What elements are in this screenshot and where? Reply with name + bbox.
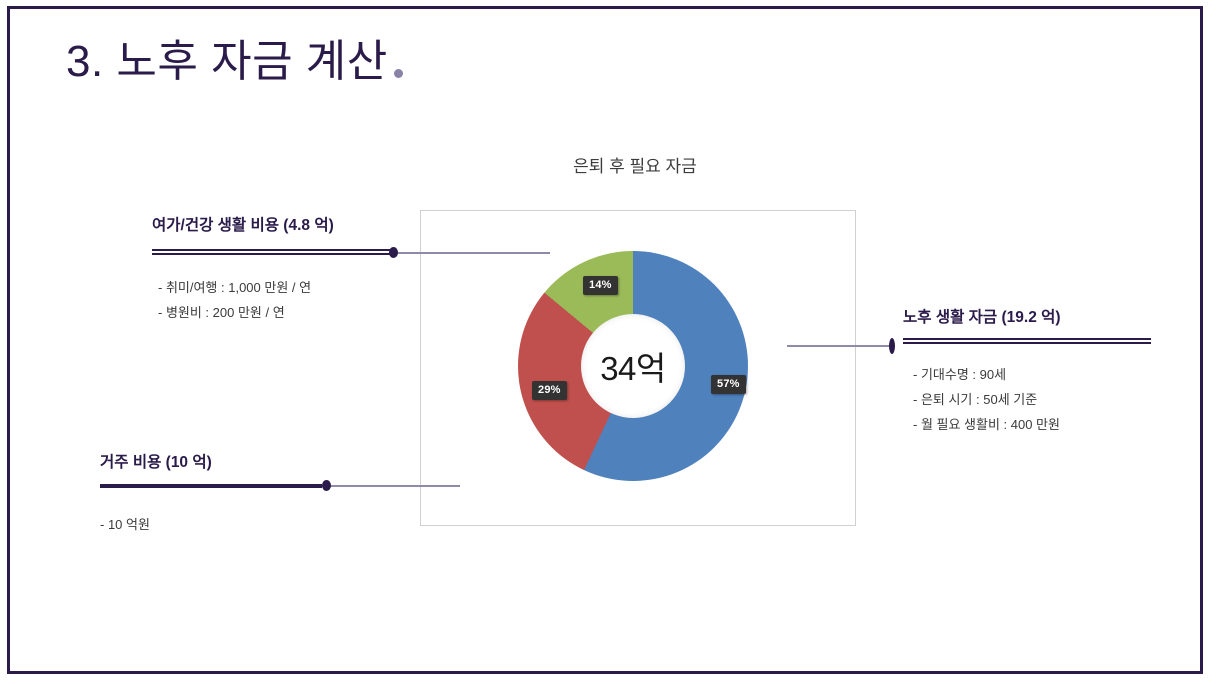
callout-housing-rule <box>100 484 322 488</box>
donut-center-total: 34억 <box>518 251 748 481</box>
callout-leisure-heading: 여가/건강 생활 비용 (4.8 억) <box>152 213 392 235</box>
callout-leisure-rule <box>152 249 392 255</box>
callout-leisure-items: - 취미/여행 : 1,000 만원 / 연 - 병원비 : 200 만원 / … <box>158 275 392 325</box>
slice-label-leisure: 14% <box>583 276 618 295</box>
slice-label-housing: 29% <box>532 381 567 400</box>
leader-line-retirement <box>787 345 890 347</box>
leader-marker-housing <box>322 480 331 491</box>
chart-title: 은퇴 후 필요 자금 <box>520 152 750 177</box>
callout-housing-heading: 거주 비용 (10 억) <box>100 450 322 472</box>
callout-retirement-items: - 기대수명 : 90세 - 은퇴 시기 : 50세 기준 - 월 필요 생활비… <box>913 362 1151 437</box>
callout-retirement: 노후 생활 자금 (19.2 억) - 기대수명 : 90세 - 은퇴 시기 :… <box>903 305 1151 437</box>
slice-label-retirement: 57% <box>711 375 746 394</box>
list-item: - 취미/여행 : 1,000 만원 / 연 <box>158 275 392 300</box>
slide-canvas: 3. 노후 자금 계산 은퇴 후 필요 자금 34억 57% 29% 14% 여… <box>0 0 1216 684</box>
callout-retirement-rule <box>903 338 1151 344</box>
list-item: - 병원비 : 200 만원 / 연 <box>158 300 392 325</box>
callout-leisure: 여가/건강 생활 비용 (4.8 억) - 취미/여행 : 1,000 만원 /… <box>152 213 392 325</box>
list-item: - 기대수명 : 90세 <box>913 362 1151 387</box>
title-accent-dot <box>394 69 403 78</box>
callout-housing-items: - 10 억원 <box>100 512 322 537</box>
list-item: - 월 필요 생활비 : 400 만원 <box>913 412 1151 437</box>
callout-housing: 거주 비용 (10 억) - 10 억원 <box>100 450 322 537</box>
donut-chart: 34억 <box>518 251 748 481</box>
callout-retirement-heading: 노후 생활 자금 (19.2 억) <box>903 305 1151 327</box>
list-item: - 은퇴 시기 : 50세 기준 <box>913 387 1151 412</box>
leader-line-housing <box>330 485 460 487</box>
page-title-text: 3. 노후 자금 계산 <box>66 37 388 87</box>
page-title: 3. 노후 자금 계산 <box>66 37 403 87</box>
list-item: - 10 억원 <box>100 512 322 537</box>
leader-marker-retirement <box>889 338 895 354</box>
